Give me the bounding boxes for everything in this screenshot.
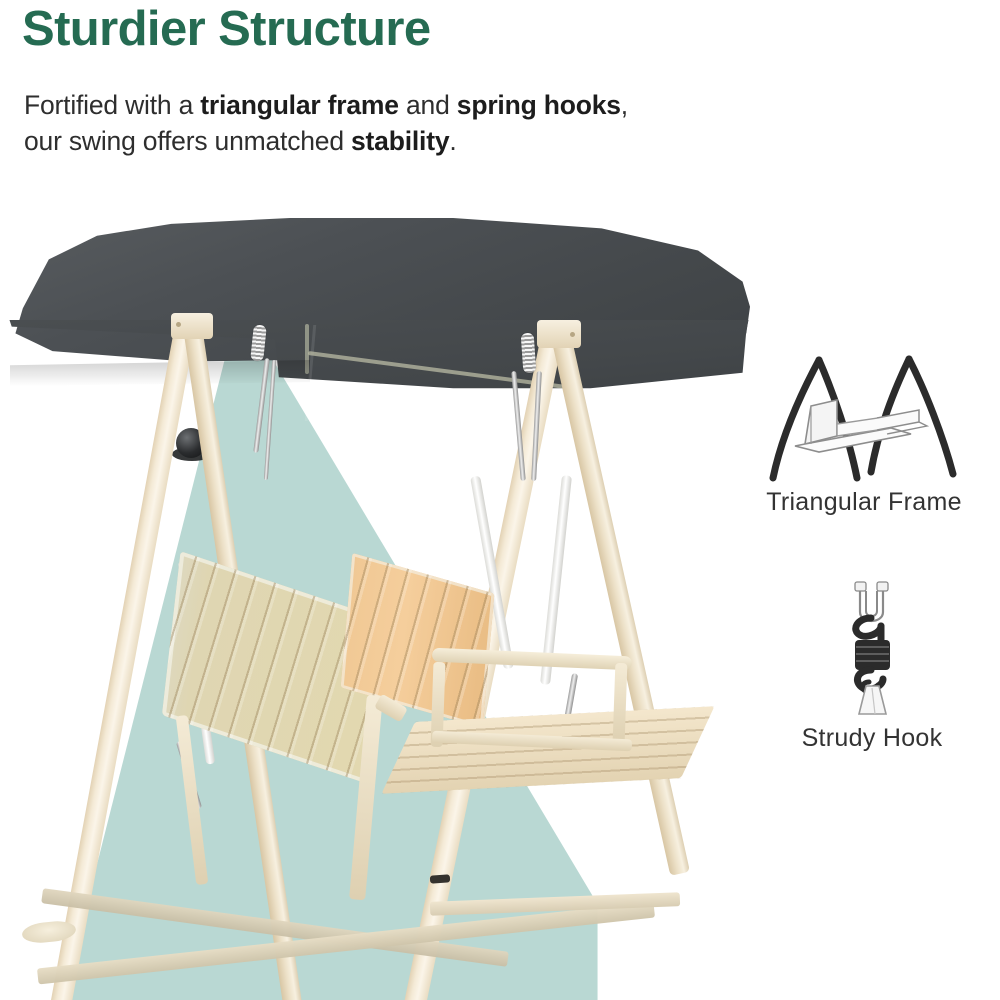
subtitle-bold-stability: stability [351, 126, 449, 156]
a-frame-swing-icon [759, 352, 969, 482]
frame-apex-left [171, 313, 213, 339]
feature-triangular-frame: Triangular Frame [734, 352, 994, 517]
frame-foot-right-back [430, 874, 451, 883]
frame-apex-right [537, 320, 581, 348]
feature-sturdy-hook-label: Strudy Hook [742, 724, 1000, 753]
feature-sturdy-hook: Strudy Hook [742, 578, 1000, 753]
subtitle-text-prefix: Fortified with a [24, 90, 200, 120]
subtitle-bold-triangular-frame: triangular frame [200, 90, 399, 120]
canopy [0, 175, 760, 495]
page-title: Sturdier Structure [22, 2, 431, 57]
subtitle-text-prefix-2: our swing offers unmatched [24, 126, 351, 156]
subtitle-bold-spring-hooks: spring hooks [457, 90, 621, 120]
subtitle-text-comma: , [621, 90, 628, 120]
spring-hook-right [521, 333, 537, 374]
product-feature-banner: Sturdier Structure Fortified with a tria… [0, 0, 1000, 1000]
product-photo [0, 175, 760, 1000]
apex-screw-left [176, 322, 181, 327]
spring-hook-icon [807, 578, 937, 718]
subtitle-line-1: Fortified with a triangular frame and sp… [24, 88, 628, 123]
subtitle-line-2: our swing offers unmatched stability. [24, 124, 457, 159]
feature-triangular-frame-label: Triangular Frame [734, 488, 994, 517]
subtitle-text-mid: and [399, 90, 457, 120]
apex-screw-right [570, 332, 575, 337]
subtitle-text-period: . [449, 126, 456, 156]
